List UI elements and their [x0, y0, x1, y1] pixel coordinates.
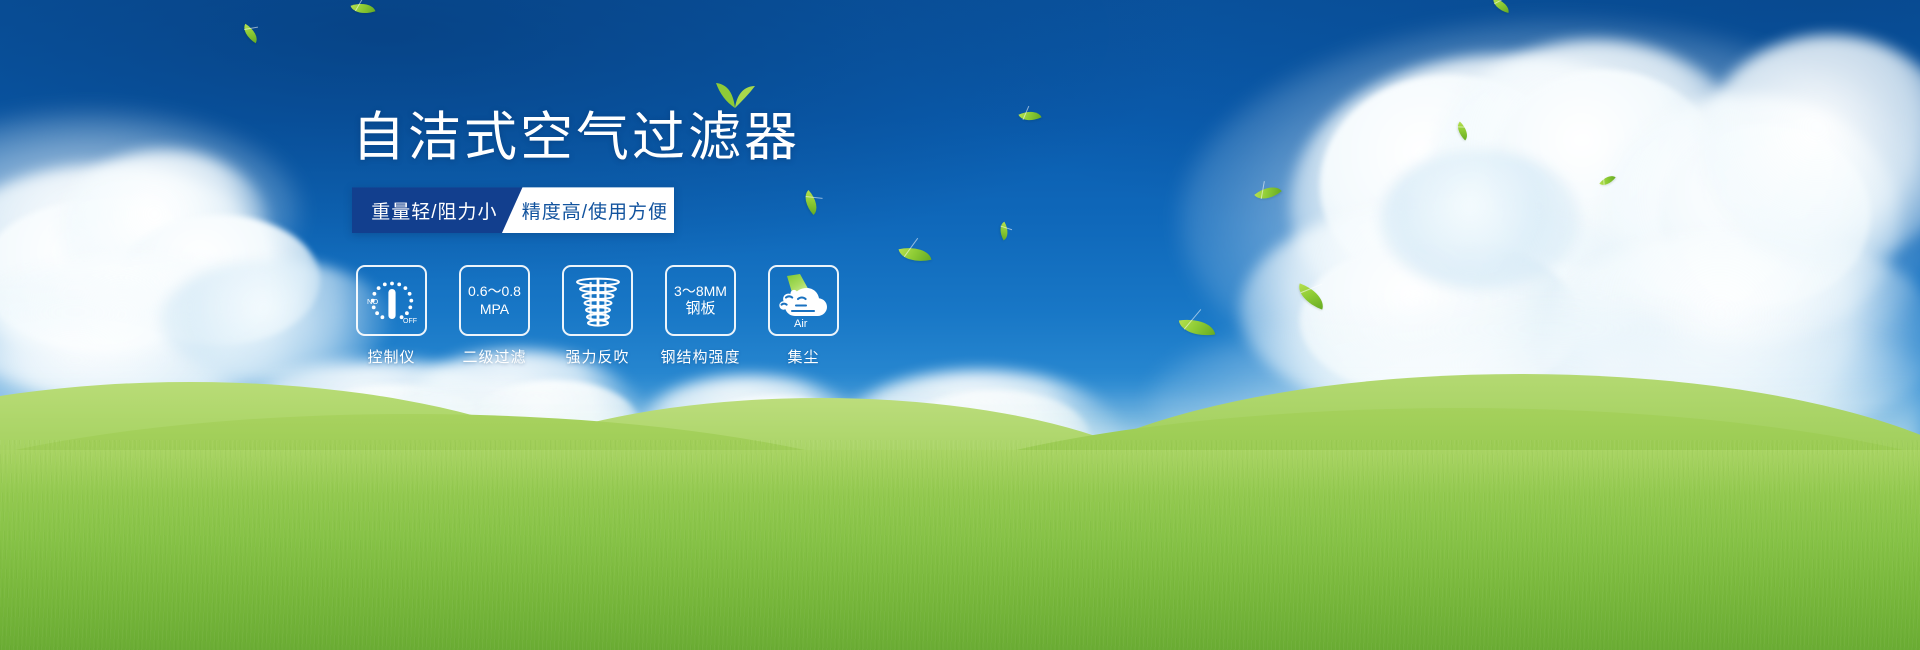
- svg-text:Air: Air: [794, 318, 808, 330]
- feature-label: 集尘: [787, 346, 819, 367]
- hero-banner: 自洁式空气过滤器 重量轻/阻力小 精度高/使用方便: [0, 0, 1920, 650]
- banner-content: 自洁式空气过滤器 重量轻/阻力小 精度高/使用方便: [352, 108, 1052, 367]
- feature-icon-box: Air: [768, 265, 839, 336]
- dust-cloud-icon: Air: [773, 272, 835, 330]
- svg-text:NO: NO: [367, 297, 378, 306]
- feature-label: 强力反吹: [565, 346, 629, 367]
- title-wrapper: 自洁式空气过滤器: [352, 108, 800, 167]
- feature-item-dust[interactable]: Air 集尘: [764, 265, 843, 367]
- badge-label: 重量轻/阻力小: [371, 197, 497, 224]
- feature-item-control[interactable]: NO OFF 控制仪: [352, 265, 431, 367]
- feature-label: 二级过滤: [462, 346, 526, 367]
- feature-icon-box: 0.6～0.8 MPA: [459, 265, 530, 336]
- feature-value-line1: 3～8MM: [674, 283, 727, 301]
- badge-precision[interactable]: 精度高/使用方便: [502, 187, 674, 233]
- feature-badges: 重量轻/阻力小 精度高/使用方便: [352, 187, 674, 233]
- feature-label: 控制仪: [367, 346, 415, 367]
- title-leaf-icon: [712, 82, 758, 108]
- page-title: 自洁式空气过滤器: [352, 108, 800, 167]
- svg-text:OFF: OFF: [403, 318, 417, 325]
- feature-icon-box: [562, 265, 633, 336]
- badge-lightweight[interactable]: 重量轻/阻力小: [352, 187, 523, 233]
- feature-item-steel[interactable]: 3～8MM 钢板 钢结构强度: [661, 265, 740, 367]
- feature-label: 钢结构强度: [661, 346, 741, 367]
- feature-item-pressure[interactable]: 0.6～0.8 MPA 二级过滤: [455, 265, 534, 367]
- feature-value-line2: 钢板: [685, 300, 715, 319]
- feature-icon-box: 3～8MM 钢板: [665, 265, 736, 336]
- blowback-coil-icon: [571, 273, 625, 329]
- grass-texture: [0, 440, 1920, 650]
- feature-icon-box: NO OFF: [356, 265, 427, 336]
- control-dial-icon: NO OFF: [363, 273, 421, 329]
- feature-value-line2: MPA: [480, 301, 509, 319]
- feature-icon-row: NO OFF 控制仪 0.6～0.8 MPA 二级过滤: [352, 265, 1052, 367]
- feature-item-blowback[interactable]: 强力反吹: [558, 265, 637, 367]
- badge-label: 精度高/使用方便: [522, 197, 668, 224]
- feature-value-line1: 0.6～0.8: [468, 283, 521, 301]
